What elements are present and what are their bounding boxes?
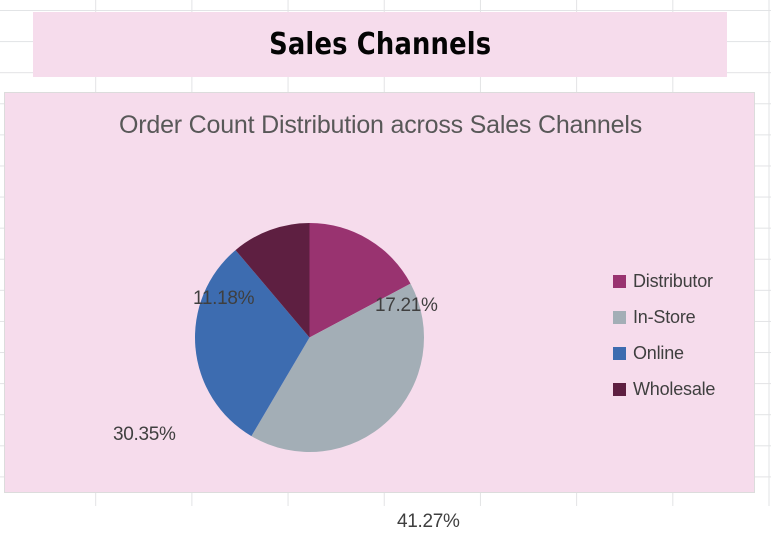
data-label-wholesale: 11.18% [193, 288, 254, 310]
legend-item-online[interactable]: Online [613, 335, 749, 371]
legend-label-online: Online [633, 343, 684, 364]
sheet-title-band: Sales Channels [33, 12, 727, 77]
legend-label-distributor: Distributor [633, 271, 713, 292]
legend-swatch-online [613, 347, 626, 360]
legend-item-wholesale[interactable]: Wholesale [613, 371, 749, 407]
page-title: Sales Channels [269, 27, 491, 62]
chart-legend: Distributor In-Store Online Wholesale [613, 263, 749, 407]
legend-label-in-store: In-Store [633, 307, 695, 328]
legend-item-distributor[interactable]: Distributor [613, 263, 749, 299]
legend-swatch-distributor [613, 275, 626, 288]
chart-title: Order Count Distribution across Sales Ch… [5, 109, 756, 141]
legend-swatch-wholesale [613, 383, 626, 396]
data-label-online: 30.35% [113, 424, 176, 446]
pie-chart-plot-area[interactable] [195, 223, 424, 452]
legend-item-in-store[interactable]: In-Store [613, 299, 749, 335]
data-label-in-store: 41.27% [397, 511, 460, 533]
data-label-distributor: 17.21% [375, 295, 438, 317]
pie-chart-svg [195, 223, 424, 452]
legend-label-wholesale: Wholesale [633, 379, 715, 400]
legend-swatch-in-store [613, 311, 626, 324]
chart-container[interactable]: Order Count Distribution across Sales Ch… [4, 92, 755, 493]
spreadsheet-canvas: Sales Channels Order Count Distribution … [0, 0, 771, 506]
